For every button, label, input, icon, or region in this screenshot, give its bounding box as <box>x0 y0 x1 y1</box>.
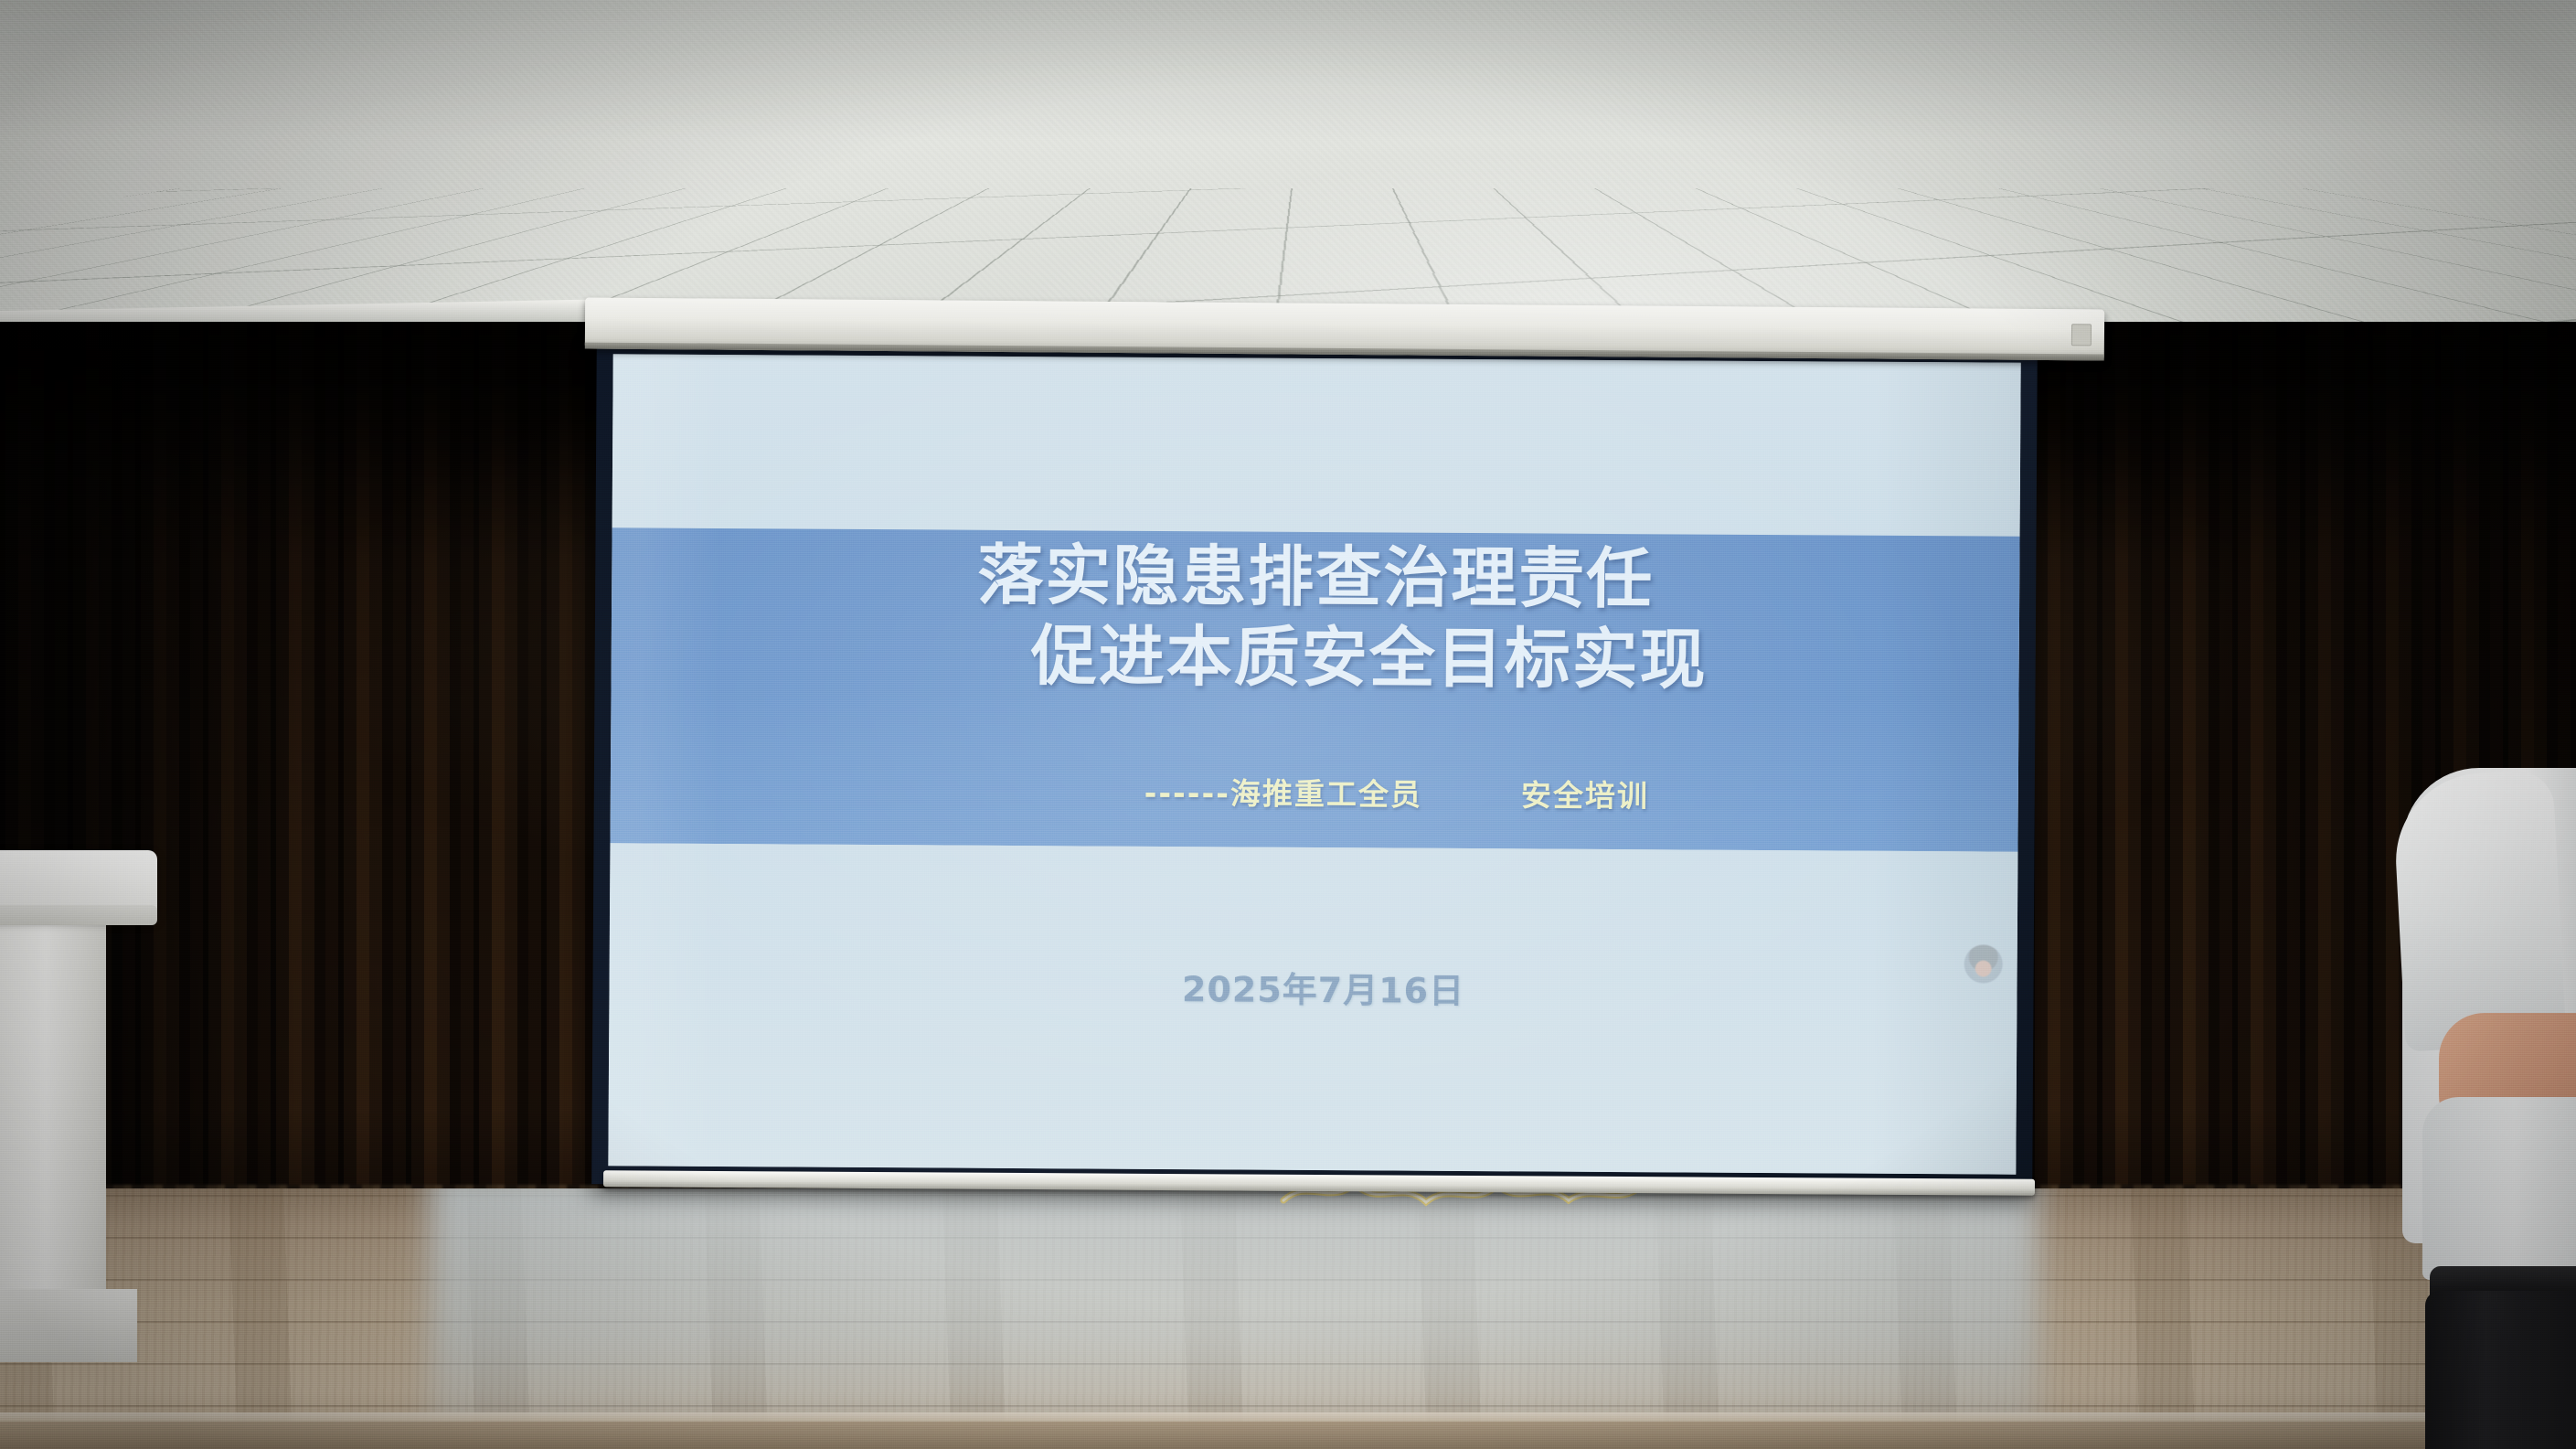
slide-subtitle-row: ------海推重工全员 安全培训 <box>611 765 2018 817</box>
lectern[interactable] <box>0 850 165 1362</box>
housing-endcap <box>2071 324 2092 346</box>
conference-room-scene: 落实隐患排查治理责任 促进本质安全目标实现 ------海推重工全员 安全培训 … <box>0 0 2576 1449</box>
lectern-column <box>0 923 106 1316</box>
lectern-top-edge <box>0 905 157 925</box>
presenter-sleeve <box>2391 770 2566 1052</box>
presenter-trousers <box>2425 1291 2576 1449</box>
slide-date: 2025年7月16日 <box>609 957 2017 1016</box>
ceiling-shading <box>0 0 2576 347</box>
slide-title-line-2: 促进本质安全目标实现 <box>611 613 2019 702</box>
suspended-ceiling <box>0 0 2576 347</box>
slide-subtitle-left: ------海推重工全员 <box>1144 769 1422 815</box>
slide-subtitle-right: 安全培训 <box>1521 771 1649 815</box>
lectern-base <box>0 1289 137 1362</box>
slide-top-background <box>612 354 2021 536</box>
presenter <box>2402 768 2576 1449</box>
slide-surface: 落实隐患排查治理责任 促进本质安全目标实现 ------海推重工全员 安全培训 … <box>608 354 2020 1174</box>
projector-light-spill <box>430 1188 2038 1449</box>
room-floor <box>0 1188 2576 1449</box>
presenter-shirt-lower <box>2422 1097 2576 1280</box>
avatar-watermark-icon <box>1964 944 2003 983</box>
slide-title: 落实隐患排查治理责任 促进本质安全目标实现 <box>611 533 2019 702</box>
slide-title-line-1: 落实隐患排查治理责任 <box>612 533 2020 622</box>
projector-screen[interactable]: 落实隐患排查治理责任 促进本质安全目标实现 ------海推重工全员 安全培训 … <box>591 341 2038 1193</box>
floor-front-edge <box>0 1422 2576 1449</box>
